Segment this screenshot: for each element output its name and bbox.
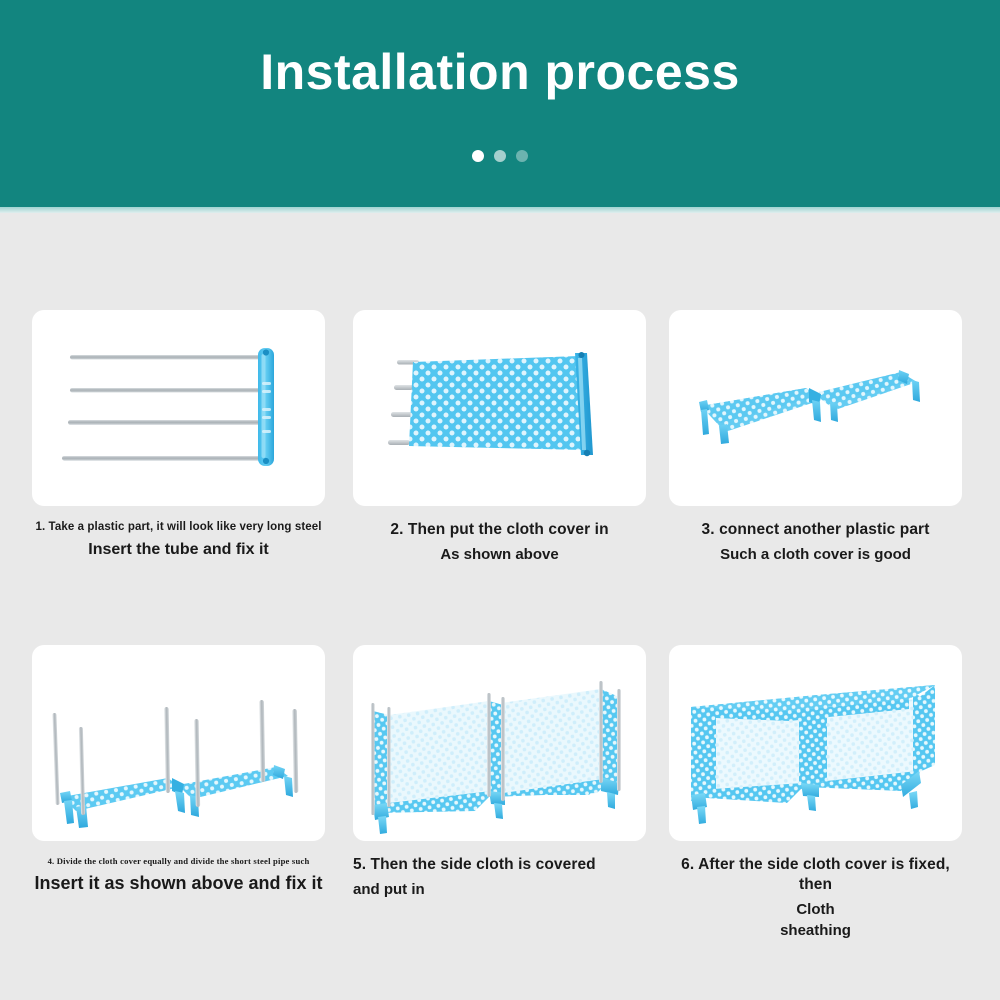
step-6-line-1: 6. After the side cloth cover is fixed, … [669,855,962,895]
step-4-line-1: 4. Divide the cloth cover equally and di… [32,855,325,867]
step-2-caption: 2. Then put the cloth cover in As shown … [353,520,646,566]
step-1-line-2: Insert the tube and fix it [32,539,325,561]
step-4-base-with-vertical-posts-image [32,645,325,841]
step-3-line-2: Such a cloth cover is good [669,544,962,566]
step-2-cloth-cover-over-frame-image [353,310,646,506]
step-3-caption: 3. connect another plastic part Such a c… [669,520,962,566]
step-4-line-2: Insert it as shown above and fix it [32,871,325,895]
step-5-side-cloth-covered-image [353,645,646,841]
step-1-image-card [32,310,325,506]
steps-grid: 1. Take a plastic part, it will look lik… [0,213,1000,1000]
carousel-dots[interactable] [0,150,1000,162]
step-card-1[interactable]: 1. Take a plastic part, it will look lik… [32,310,325,561]
step-4-image-card [32,645,325,841]
carousel-dot-3[interactable] [516,150,528,162]
carousel-dot-2[interactable] [494,150,506,162]
step-6-caption: 6. After the side cloth cover is fixed, … [669,855,962,941]
step-2-line-2: As shown above [353,544,646,566]
step-2-image-card [353,310,646,506]
step-5-image-card [353,645,646,841]
step-1-caption: 1. Take a plastic part, it will look lik… [32,520,325,561]
step-5-line-1: 5. Then the side cloth is covered [353,855,646,875]
step-3-line-1: 3. connect another plastic part [669,520,962,540]
step-3-two-panels-connected-image [669,310,962,506]
carousel-dot-1[interactable] [472,150,484,162]
step-card-6[interactable]: 6. After the side cloth cover is fixed, … [669,645,962,941]
step-card-2[interactable]: 2. Then put the cloth cover in As shown … [353,310,646,566]
step-2-line-1: 2. Then put the cloth cover in [353,520,646,540]
step-5-caption: 5. Then the side cloth is covered and pu… [353,855,646,901]
step-1-line-1: 1. Take a plastic part, it will look lik… [32,520,325,535]
step-3-image-card [669,310,962,506]
step-6-finished-cloth-sheathing-image [669,645,962,841]
step-card-5[interactable]: 5. Then the side cloth is covered and pu… [353,645,646,901]
step-6-line-3: sheathing [669,921,962,941]
page-header: Installation process [0,0,1000,207]
step-card-3[interactable]: 3. connect another plastic part Such a c… [669,310,962,566]
step-6-line-2: Cloth [669,899,962,921]
page-title: Installation process [0,42,1000,102]
step-6-image-card [669,645,962,841]
step-4-caption: 4. Divide the cloth cover equally and di… [32,855,325,895]
step-card-4[interactable]: 4. Divide the cloth cover equally and di… [32,645,325,895]
step-1-steel-rods-with-plastic-connector-image [32,310,325,506]
step-5-line-2: and put in [353,879,646,901]
